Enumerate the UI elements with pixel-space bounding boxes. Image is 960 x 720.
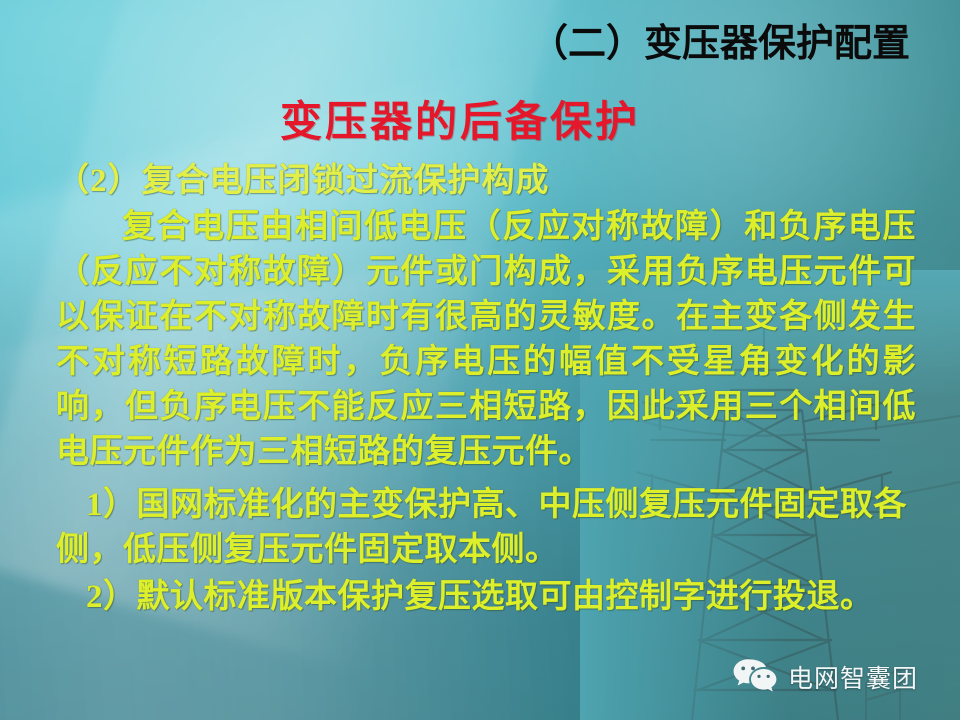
watermark: 电网智囊团 [732,658,918,696]
body-paragraph-main: 复合电压由相间低电压（反应对称故障）和负序电压（反应不对称故障）元件或门构成，采… [56,205,916,475]
page-title: （二）变压器保护配置 [530,12,910,67]
slide-subtitle: 变压器的后备保护 [0,88,960,149]
watermark-label: 电网智囊团 [788,659,918,695]
body-paragraph-item-2: 2）默认标准版本保护复压选取可由控制字进行投退。 [56,575,916,620]
wechat-icon [732,658,778,696]
presentation-slide: （二）变压器保护配置 变压器的后备保护 （2）复合电压闭锁过流保护构成 复合电压… [0,0,960,720]
body-paragraph-item-1: 1）国网标准化的主变保护高、中压侧复压元件固定取各侧，低压侧复压元件固定取本侧。 [56,483,916,573]
body-paragraph-heading: （2）复合电压闭锁过流保护构成 [56,160,916,203]
slide-body: （2）复合电压闭锁过流保护构成 复合电压由相间低电压（反应对称故障）和负序电压（… [56,160,916,622]
